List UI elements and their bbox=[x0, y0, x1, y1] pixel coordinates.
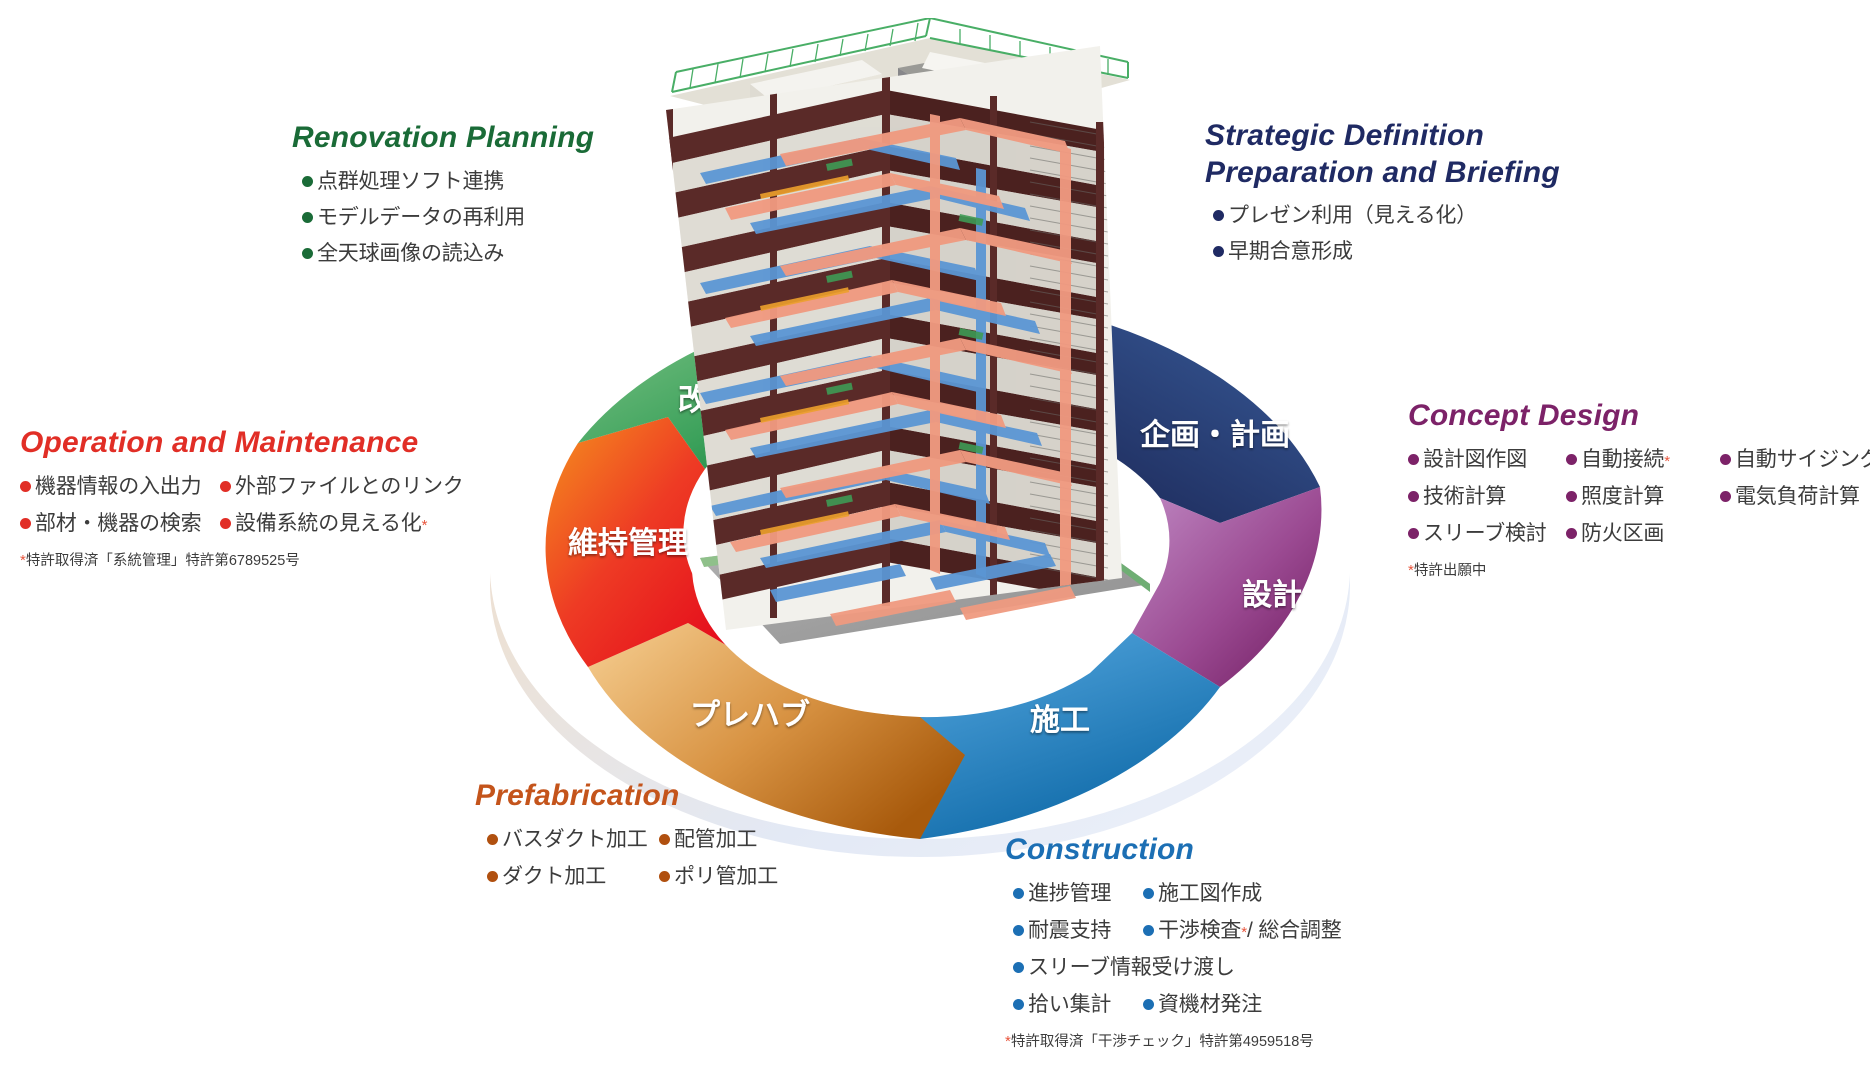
patent-note-text: 特許取得済「系統管理」特許第6789525号 bbox=[26, 553, 300, 569]
bullet-dot-icon bbox=[1566, 454, 1577, 465]
bullet-row: バスダクト加工配管加工 bbox=[487, 823, 778, 853]
bullet-row: 拾い集計資機材発注 bbox=[1013, 988, 1342, 1018]
callout-concept-design: Concept Design 設計図作図自動接続*自動サイジング技術計算照度計算… bbox=[1408, 398, 1870, 580]
bullet-label: 配管加工 bbox=[674, 823, 757, 853]
patent-note: *特許取得済「干渉チェック」特許第4959518号 bbox=[1005, 1030, 1342, 1051]
callout-title-prefabrication: Prefabrication bbox=[475, 778, 778, 815]
callout-title-renovation: Renovation Planning bbox=[292, 120, 594, 157]
bullet-dot-icon bbox=[1143, 888, 1154, 899]
bullet-dot-icon bbox=[659, 871, 670, 882]
bullet-row: 全天球画像の読込み bbox=[302, 237, 594, 267]
bullet-dot-icon bbox=[1408, 528, 1419, 539]
bullet-item[interactable]: バスダクト加工 bbox=[487, 823, 659, 853]
bullet-item[interactable]: モデルデータの再利用 bbox=[302, 201, 525, 231]
bullet-item[interactable]: 機器情報の入出力 bbox=[20, 470, 220, 500]
bullet-row: 部材・機器の検索設備系統の見える化* bbox=[20, 507, 464, 537]
bullet-item[interactable]: 照度計算 bbox=[1566, 480, 1702, 510]
callout-title-strategic: Strategic Definition Preparation and Bri… bbox=[1205, 118, 1560, 191]
callout-list-operation: 機器情報の入出力外部ファイルとのリンク部材・機器の検索設備系統の見える化**特許… bbox=[20, 470, 464, 570]
bullet-label: ポリ管加工 bbox=[674, 860, 778, 890]
callout-title-construction: Construction bbox=[1005, 832, 1342, 869]
bullet-dot-icon bbox=[20, 518, 31, 529]
bullet-dot-icon bbox=[20, 481, 31, 492]
bullet-row: 技術計算照度計算電気負荷計算 bbox=[1408, 480, 1870, 510]
bullet-label: プレゼン利用（見える化） bbox=[1228, 199, 1477, 229]
bullet-label: 電気負荷計算 bbox=[1735, 480, 1860, 510]
bullet-dot-icon bbox=[220, 481, 231, 492]
callout-title-concept: Concept Design bbox=[1408, 398, 1870, 435]
bullet-dot-icon bbox=[1213, 246, 1224, 257]
bullet-row: 進捗管理施工図作成 bbox=[1013, 877, 1342, 907]
bullet-dot-icon bbox=[302, 212, 313, 223]
bullet-dot-icon bbox=[302, 248, 313, 259]
bullet-item[interactable]: 防火区画 bbox=[1566, 517, 1702, 547]
bullet-dot-icon bbox=[1013, 925, 1024, 936]
bullet-dot-icon bbox=[1720, 491, 1731, 502]
bullet-row: 設計図作図自動接続*自動サイジング bbox=[1408, 443, 1870, 473]
bullet-item[interactable]: 自動サイジング bbox=[1720, 443, 1870, 473]
bullet-dot-icon bbox=[302, 176, 313, 187]
bullet-label: 設備系統の見える化 bbox=[235, 507, 422, 537]
bullet-item[interactable]: 資機材発注 bbox=[1143, 988, 1262, 1018]
bullet-dot-icon bbox=[1408, 454, 1419, 465]
bullet-item[interactable]: 進捗管理 bbox=[1013, 877, 1143, 907]
bullet-dot-icon bbox=[487, 834, 498, 845]
bullet-label: 資機材発注 bbox=[1158, 988, 1262, 1018]
bullet-label: ダクト加工 bbox=[502, 860, 606, 890]
bullet-item[interactable]: 全天球画像の読込み bbox=[302, 237, 504, 267]
bullet-item[interactable]: 耐震支持 bbox=[1013, 914, 1143, 944]
callout-list-construction: 進捗管理施工図作成耐震支持干渉検査*/ 総合調整スリーブ情報受け渡し拾い集計資機… bbox=[1005, 877, 1342, 1051]
bullet-dot-icon bbox=[487, 871, 498, 882]
callout-list-concept: 設計図作図自動接続*自動サイジング技術計算照度計算電気負荷計算スリーブ検討防火区… bbox=[1408, 443, 1870, 580]
bullet-label: 点群処理ソフト連携 bbox=[317, 165, 504, 195]
bullet-dot-icon bbox=[1013, 999, 1024, 1010]
bullet-label: 部材・機器の検索 bbox=[35, 507, 201, 537]
bullet-dot-icon bbox=[1013, 962, 1024, 973]
bullet-label: 拾い集計 bbox=[1028, 988, 1111, 1018]
bullet-item[interactable]: スリーブ検討 bbox=[1408, 517, 1548, 547]
bullet-item[interactable]: 部材・機器の検索 bbox=[20, 507, 220, 537]
ring-label-design: 設計 bbox=[1242, 578, 1302, 612]
bullet-item[interactable]: 設備系統の見える化* bbox=[220, 507, 427, 537]
callout-strategic-definition: Strategic Definition Preparation and Bri… bbox=[1205, 118, 1560, 265]
callout-list-strategic: プレゼン利用（見える化）早期合意形成 bbox=[1205, 199, 1560, 265]
bullet-label: スリーブ情報受け渡し bbox=[1028, 951, 1235, 981]
patent-note: *特許取得済「系統管理」特許第6789525号 bbox=[20, 549, 464, 570]
bullet-row: スリーブ情報受け渡し bbox=[1013, 951, 1342, 981]
bullet-item[interactable]: ポリ管加工 bbox=[659, 860, 778, 890]
bullet-dot-icon bbox=[1143, 925, 1154, 936]
bullet-row: ダクト加工ポリ管加工 bbox=[487, 860, 778, 890]
bullet-label: 設計図作図 bbox=[1423, 443, 1527, 473]
bullet-dot-icon bbox=[1566, 528, 1577, 539]
bullet-item[interactable]: 配管加工 bbox=[659, 823, 757, 853]
bullet-row: 機器情報の入出力外部ファイルとのリンク bbox=[20, 470, 464, 500]
patent-note-text: 特許取得済「干渉チェック」特許第4959518号 bbox=[1011, 1034, 1314, 1050]
patent-note-text: 特許出願中 bbox=[1414, 563, 1487, 579]
bullet-row: スリーブ検討防火区画 bbox=[1408, 517, 1870, 547]
bullet-label: スリーブ検討 bbox=[1423, 517, 1547, 547]
bullet-item[interactable]: 技術計算 bbox=[1408, 480, 1548, 510]
bullet-item[interactable]: 施工図作成 bbox=[1143, 877, 1262, 907]
callout-list-prefabrication: バスダクト加工配管加工ダクト加工ポリ管加工 bbox=[475, 823, 778, 890]
diagram-canvas: 企画・計画 設計 施工 プレハブ 維持管理 改修計画 bbox=[0, 0, 1870, 1070]
bullet-item[interactable]: ダクト加工 bbox=[487, 860, 659, 890]
bullet-dot-icon bbox=[1213, 210, 1224, 221]
callout-construction: Construction 進捗管理施工図作成耐震支持干渉検査*/ 総合調整スリー… bbox=[1005, 832, 1342, 1051]
bullet-dot-icon bbox=[1566, 491, 1577, 502]
callout-title-operation: Operation and Maintenance bbox=[20, 425, 464, 462]
bullet-label: 全天球画像の読込み bbox=[317, 237, 504, 267]
ring-label-construction: 施工 bbox=[1030, 704, 1090, 737]
building-svg bbox=[630, 18, 1190, 678]
bullet-item[interactable]: 早期合意形成 bbox=[1213, 235, 1353, 265]
bullet-item[interactable]: 電気負荷計算 bbox=[1720, 480, 1860, 510]
bullet-label: 自動サイジング bbox=[1735, 443, 1870, 473]
bullet-label: 進捗管理 bbox=[1028, 877, 1111, 907]
bullet-row: 早期合意形成 bbox=[1213, 235, 1560, 265]
bullet-dot-icon bbox=[659, 834, 670, 845]
bullet-row: モデルデータの再利用 bbox=[302, 201, 594, 231]
bullet-label: 早期合意形成 bbox=[1228, 235, 1353, 265]
bullet-item[interactable]: 自動接続* bbox=[1566, 443, 1702, 473]
bullet-label: 機器情報の入出力 bbox=[35, 470, 201, 500]
bullet-item[interactable]: 点群処理ソフト連携 bbox=[302, 165, 504, 195]
bullet-item[interactable]: 設計図作図 bbox=[1408, 443, 1548, 473]
bullet-label: 耐震支持 bbox=[1028, 914, 1111, 944]
callout-operation-maintenance: Operation and Maintenance 機器情報の入出力外部ファイル… bbox=[20, 425, 464, 570]
bullet-label: 技術計算 bbox=[1423, 480, 1506, 510]
bullet-dot-icon bbox=[1720, 454, 1731, 465]
bullet-label: バスダクト加工 bbox=[502, 823, 648, 853]
bullet-item[interactable]: 外部ファイルとのリンク bbox=[220, 470, 464, 500]
callout-prefabrication: Prefabrication バスダクト加工配管加工ダクト加工ポリ管加工 bbox=[475, 778, 778, 890]
bullet-label: 照度計算 bbox=[1581, 480, 1664, 510]
bullet-label: 防火区画 bbox=[1581, 517, 1664, 547]
callout-list-renovation: 点群処理ソフト連携モデルデータの再利用全天球画像の読込み bbox=[292, 165, 594, 267]
bullet-suffix: / 総合調整 bbox=[1247, 914, 1341, 944]
bullet-item[interactable]: 干渉検査*/ 総合調整 bbox=[1143, 914, 1342, 944]
bullet-label: モデルデータの再利用 bbox=[317, 201, 525, 231]
bullet-dot-icon bbox=[1143, 999, 1154, 1010]
bullet-item[interactable]: 拾い集計 bbox=[1013, 988, 1143, 1018]
bullet-row: プレゼン利用（見える化） bbox=[1213, 199, 1560, 229]
building-frame bbox=[630, 18, 1190, 678]
bullet-dot-icon bbox=[1408, 491, 1419, 502]
bullet-label: 干渉検査 bbox=[1158, 914, 1241, 944]
building-bim-model bbox=[630, 18, 1190, 678]
ring-label-prefab: プレハブ bbox=[690, 698, 810, 732]
patent-note: *特許出願中 bbox=[1408, 559, 1870, 580]
bullet-label: 施工図作成 bbox=[1158, 877, 1262, 907]
bullet-row: 耐震支持干渉検査*/ 総合調整 bbox=[1013, 914, 1342, 944]
bullet-dot-icon bbox=[1013, 888, 1024, 899]
callout-renovation-planning: Renovation Planning 点群処理ソフト連携モデルデータの再利用全… bbox=[292, 120, 594, 267]
bullet-label: 外部ファイルとのリンク bbox=[235, 470, 464, 500]
bullet-dot-icon bbox=[220, 518, 231, 529]
bullet-row: 点群処理ソフト連携 bbox=[302, 165, 594, 195]
bullet-label: 自動接続 bbox=[1581, 443, 1664, 473]
bullet-item[interactable]: プレゼン利用（見える化） bbox=[1213, 199, 1477, 229]
bullet-item[interactable]: スリーブ情報受け渡し bbox=[1013, 951, 1235, 981]
